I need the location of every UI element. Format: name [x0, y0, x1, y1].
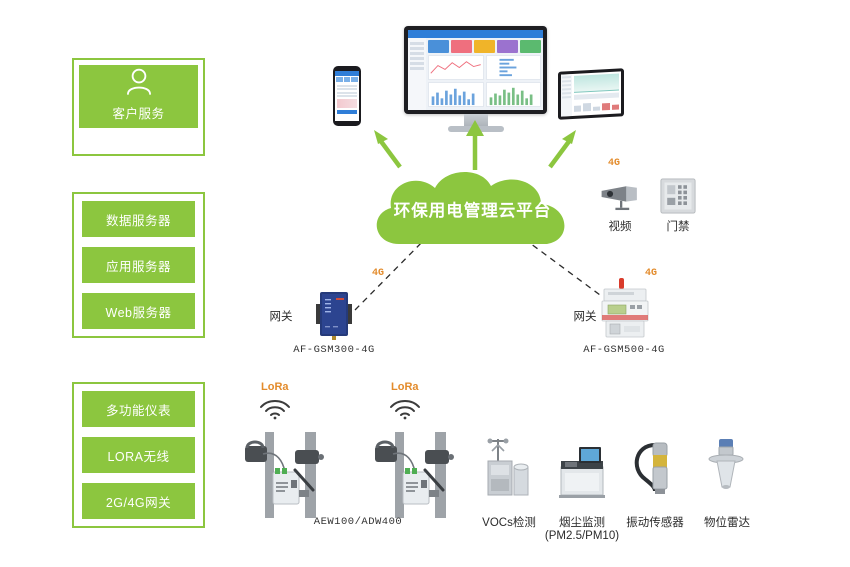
gateway-300-icon	[313, 288, 355, 342]
device-video-camera[interactable]	[597, 180, 643, 214]
tablet-bar-chart	[574, 100, 619, 112]
chart-column-green	[486, 82, 542, 107]
caption-video-camera: 视频	[587, 218, 653, 234]
panel-customer-service: 客户服务	[72, 58, 205, 156]
meter-adw400-icon	[373, 428, 473, 520]
arrow-head-right	[562, 130, 576, 144]
monitor-screen	[408, 30, 543, 110]
chip-app-server[interactable]: 应用服务器	[82, 247, 195, 283]
keypad-icon	[660, 178, 696, 214]
dashboard-kpi-cards	[428, 40, 541, 53]
arrow-head-left	[374, 130, 388, 144]
caption-door-access: 门禁	[645, 218, 711, 234]
phone-chart	[337, 99, 357, 108]
panel-servers: 数据服务器 应用服务器 Web服务器	[72, 192, 205, 338]
customer-service-label: 客户服务	[112, 103, 164, 122]
panel-field-layer: 多功能仪表 LORA无线 2G/4G网关	[72, 382, 205, 528]
dashboard-chart-grid	[428, 55, 541, 107]
caption-level-radar: 物位雷达	[680, 514, 774, 530]
chip-lora-wireless[interactable]: LORA无线	[82, 437, 195, 473]
tablet-sidebar	[561, 74, 572, 117]
chip-multifunction-meter[interactable]: 多功能仪表	[82, 391, 195, 427]
device-gateway-right[interactable]	[598, 278, 652, 340]
camera-icon	[597, 180, 643, 214]
level-radar-icon	[697, 435, 755, 497]
label-gateway-right-model: AF-GSM500-4G	[562, 344, 686, 356]
lora-signal-icon-b	[388, 396, 422, 420]
label-lora-a: LoRa	[261, 381, 289, 393]
dust-monitor-icon	[553, 440, 611, 502]
label-meter-model: AEW100/ADW400	[283, 516, 433, 528]
gateway-500-icon	[598, 278, 652, 340]
phone-kpi-row	[335, 76, 359, 83]
lora-signal-icon-a	[258, 396, 292, 420]
arrow-head-center	[466, 120, 484, 136]
vocs-icon	[480, 435, 538, 497]
device-level-radar[interactable]	[697, 435, 755, 497]
chart-hbar	[486, 55, 542, 80]
device-gateway-left[interactable]	[313, 288, 355, 342]
chip-2g4g-gateway[interactable]: 2G/4G网关	[82, 483, 195, 519]
label-gateway-left-role: 网关	[258, 308, 304, 324]
person-icon	[122, 65, 156, 99]
chip-data-server[interactable]: 数据服务器	[82, 201, 195, 237]
cloud-platform-label: 环保用电管理云平台	[365, 166, 580, 246]
monitor-bezel	[404, 26, 547, 114]
customer-service-chip[interactable]: 客户服务	[79, 65, 198, 128]
tablet-screen	[561, 71, 621, 116]
diagram-canvas: 客户服务 数据服务器 应用服务器 Web服务器 多功能仪表 LORA无线 2G/…	[0, 0, 850, 567]
meter-aew100-icon	[243, 428, 343, 520]
vibration-sensor-icon	[625, 435, 683, 497]
device-vocs-detector[interactable]	[480, 435, 538, 497]
chart-line	[428, 55, 484, 80]
phone-list-rows	[335, 85, 359, 98]
label-4g-camera: 4G	[608, 158, 620, 169]
tablet-area-chart	[574, 74, 619, 93]
device-door-access[interactable]	[660, 178, 696, 214]
label-4g-gateway-left: 4G	[372, 268, 384, 279]
chip-web-server[interactable]: Web服务器	[82, 293, 195, 329]
dashboard-header	[408, 30, 543, 38]
label-lora-b: LoRa	[391, 381, 419, 393]
cloud-platform[interactable]: 环保用电管理云平台	[365, 166, 580, 246]
tablet-main	[572, 71, 621, 116]
tablet-row	[574, 93, 619, 100]
device-dust-monitor[interactable]	[553, 440, 611, 502]
dashboard-sidebar	[408, 38, 426, 110]
device-meter-b[interactable]	[373, 428, 473, 520]
device-meter-a[interactable]	[243, 428, 343, 520]
device-vibration-sensor[interactable]	[625, 435, 683, 497]
dashboard-main	[426, 38, 543, 110]
caption-dust-monitor-sub: (PM2.5/PM10)	[535, 530, 629, 542]
chart-column-blue	[428, 82, 484, 107]
label-gateway-left-model: AF-GSM300-4G	[272, 344, 396, 356]
cloud-uplink-arrows	[350, 112, 600, 174]
